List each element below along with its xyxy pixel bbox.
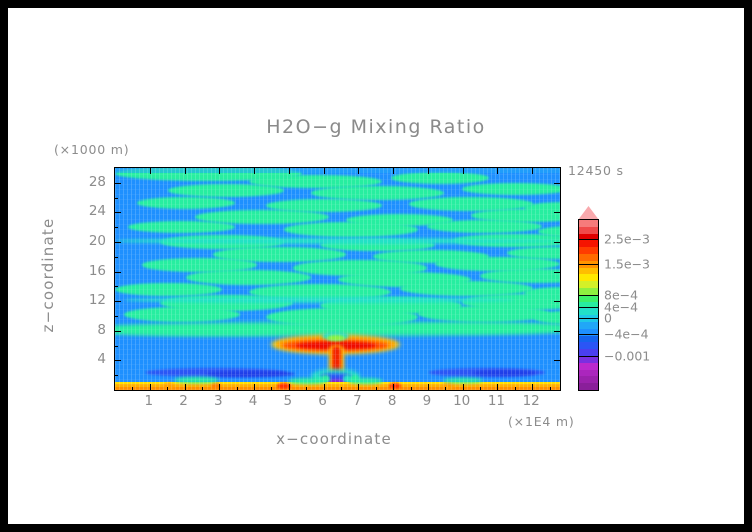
colorbar-segment	[579, 295, 598, 302]
y-tick-right	[554, 272, 560, 273]
x-tick-major	[428, 384, 429, 390]
x-tick-label: 8	[388, 393, 397, 409]
y-tick-major	[115, 360, 121, 361]
x-tick-minor	[376, 387, 377, 390]
y-tick-major	[115, 183, 121, 184]
colorbar-label: −4e−4	[604, 326, 649, 341]
colorbar-tick	[578, 295, 599, 296]
y-tick-major	[115, 212, 121, 213]
colorbar-segment	[579, 240, 598, 247]
x-tick-minor	[202, 387, 203, 390]
colorbar-segment	[579, 247, 598, 254]
y-tick-label: 20	[80, 233, 106, 249]
x-tick-top	[358, 168, 359, 174]
y-tick-major	[115, 272, 121, 273]
colorbar-label: 0	[604, 311, 612, 326]
colorbar-segment	[579, 274, 598, 281]
x-tick-minor	[306, 387, 307, 390]
y-tick-major	[115, 331, 121, 332]
y-tick-minor	[115, 257, 118, 258]
colorbar-segment	[579, 322, 598, 329]
x-tick-top	[254, 168, 255, 174]
colorbar-segment	[579, 336, 598, 343]
y-tick-right	[554, 331, 560, 332]
colorbar-segment	[579, 254, 598, 261]
x-tick-label: 9	[423, 393, 432, 409]
x-tick-major	[532, 384, 533, 390]
x-tick-top	[428, 168, 429, 174]
x-tick-top	[463, 168, 464, 174]
y-tick-right	[554, 301, 560, 302]
colorbar-segment	[579, 356, 598, 363]
x-tick-label: 1	[144, 393, 153, 409]
x-tick-top	[219, 168, 220, 174]
x-tick-minor	[132, 387, 133, 390]
colorbar-arrow-cap	[578, 206, 599, 220]
x-tick-label: 12	[523, 393, 540, 409]
colorbar	[578, 219, 599, 391]
x-tick-major	[393, 384, 394, 390]
colorbar-tick	[578, 307, 599, 308]
contour-plot-area	[114, 167, 561, 391]
figure-canvas: H2O−g Mixing Ratio (×1000 m) 12450 s (×1…	[8, 8, 744, 524]
raster-texture	[115, 168, 560, 390]
x-tick-major	[463, 384, 464, 390]
y-tick-minor	[115, 198, 118, 199]
colorbar-segment	[579, 268, 598, 275]
x-tick-top	[185, 168, 186, 174]
y-tick-label: 24	[80, 203, 106, 219]
x-tick-minor	[237, 387, 238, 390]
y-axis-unit-label: (×1000 m)	[54, 142, 129, 157]
x-tick-top	[324, 168, 325, 174]
y-tick-minor	[115, 346, 118, 347]
y-tick-label: 8	[80, 322, 106, 338]
x-tick-top	[532, 168, 533, 174]
x-tick-label: 5	[284, 393, 293, 409]
y-tick-major	[115, 301, 121, 302]
x-tick-label: 4	[249, 393, 258, 409]
y-tick-right	[554, 360, 560, 361]
colorbar-segment	[579, 220, 598, 227]
x-tick-top	[393, 168, 394, 174]
y-tick-label: 16	[80, 263, 106, 279]
x-tick-minor	[550, 387, 551, 390]
x-tick-label: 11	[488, 393, 505, 409]
x-tick-major	[185, 384, 186, 390]
y-tick-right	[554, 183, 560, 184]
x-tick-label: 3	[214, 393, 223, 409]
x-tick-minor	[445, 387, 446, 390]
y-tick-minor	[115, 286, 118, 287]
colorbar-segment	[579, 363, 598, 370]
colorbar-segment	[579, 308, 598, 315]
y-tick-major	[115, 242, 121, 243]
colorbar-segment	[579, 342, 598, 349]
x-tick-major	[254, 384, 255, 390]
y-tick-right	[554, 242, 560, 243]
colorbar-label: −0.001	[604, 348, 650, 363]
x-tick-major	[219, 384, 220, 390]
x-tick-major	[150, 384, 151, 390]
x-tick-major	[497, 384, 498, 390]
chart-title: H2O−g Mixing Ratio	[8, 116, 744, 138]
x-tick-minor	[271, 387, 272, 390]
colorbar-segment	[579, 383, 598, 390]
x-tick-label: 10	[453, 393, 470, 409]
x-axis-unit-label: (×1E4 m)	[508, 414, 575, 429]
x-axis-label: x−coordinate	[184, 430, 484, 448]
colorbar-tick	[578, 334, 599, 335]
x-tick-minor	[341, 387, 342, 390]
x-tick-label: 7	[353, 393, 362, 409]
x-tick-minor	[167, 387, 168, 390]
x-tick-label: 2	[179, 393, 188, 409]
colorbar-tick	[578, 264, 599, 265]
x-tick-top	[497, 168, 498, 174]
y-tick-label: 12	[80, 292, 106, 308]
x-tick-top	[289, 168, 290, 174]
y-tick-label: 4	[80, 351, 106, 367]
y-tick-minor	[115, 227, 118, 228]
colorbar-tick	[578, 356, 599, 357]
x-tick-major	[358, 384, 359, 390]
colorbar-tick	[578, 318, 599, 319]
x-tick-minor	[411, 387, 412, 390]
colorbar-tick	[578, 239, 599, 240]
timestamp-label: 12450 s	[568, 163, 624, 178]
y-tick-minor	[115, 375, 118, 376]
x-tick-minor	[515, 387, 516, 390]
x-tick-major	[324, 384, 325, 390]
colorbar-label: 1.5e−3	[604, 257, 650, 272]
x-tick-label: 6	[318, 393, 327, 409]
y-tick-right	[554, 212, 560, 213]
y-tick-label: 28	[80, 174, 106, 190]
colorbar-segment	[579, 376, 598, 383]
x-tick-top	[150, 168, 151, 174]
figure-page: H2O−g Mixing Ratio (×1000 m) 12450 s (×1…	[0, 0, 752, 532]
y-tick-minor	[115, 316, 118, 317]
colorbar-label: 2.5e−3	[604, 231, 650, 246]
colorbar-segment	[579, 370, 598, 377]
colorbar-segment	[579, 227, 598, 234]
y-axis-label: z−coordinate	[39, 215, 57, 335]
x-tick-minor	[480, 387, 481, 390]
x-tick-major	[289, 384, 290, 390]
colorbar-segment	[579, 281, 598, 288]
